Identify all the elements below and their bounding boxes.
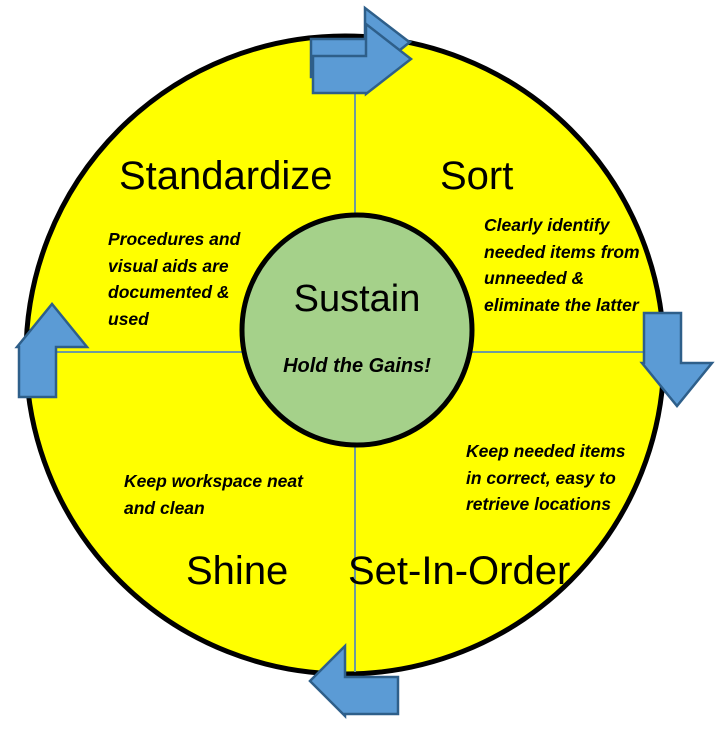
quadrant-description-standardize: Procedures and visual aids are documente… <box>108 226 260 332</box>
quadrant-description-sort: Clearly identify needed items from unnee… <box>484 212 644 318</box>
quadrant-title-set-in-order: Set-In-Order <box>348 550 570 592</box>
quadrant-title-shine: Shine <box>186 550 288 592</box>
hub-subtitle: Hold the Gains! <box>242 355 472 378</box>
text-layer: Standardize Procedures and visual aids a… <box>0 0 720 736</box>
quadrant-description-shine: Keep workspace neat and clean <box>124 468 304 521</box>
quadrant-title-standardize: Standardize <box>119 155 332 197</box>
five-s-cycle-diagram: Standardize Procedures and visual aids a… <box>0 0 720 736</box>
hub-title: Sustain <box>242 278 472 321</box>
quadrant-title-sort: Sort <box>440 155 513 197</box>
quadrant-description-set-in-order: Keep needed items in correct, easy to re… <box>466 438 626 518</box>
